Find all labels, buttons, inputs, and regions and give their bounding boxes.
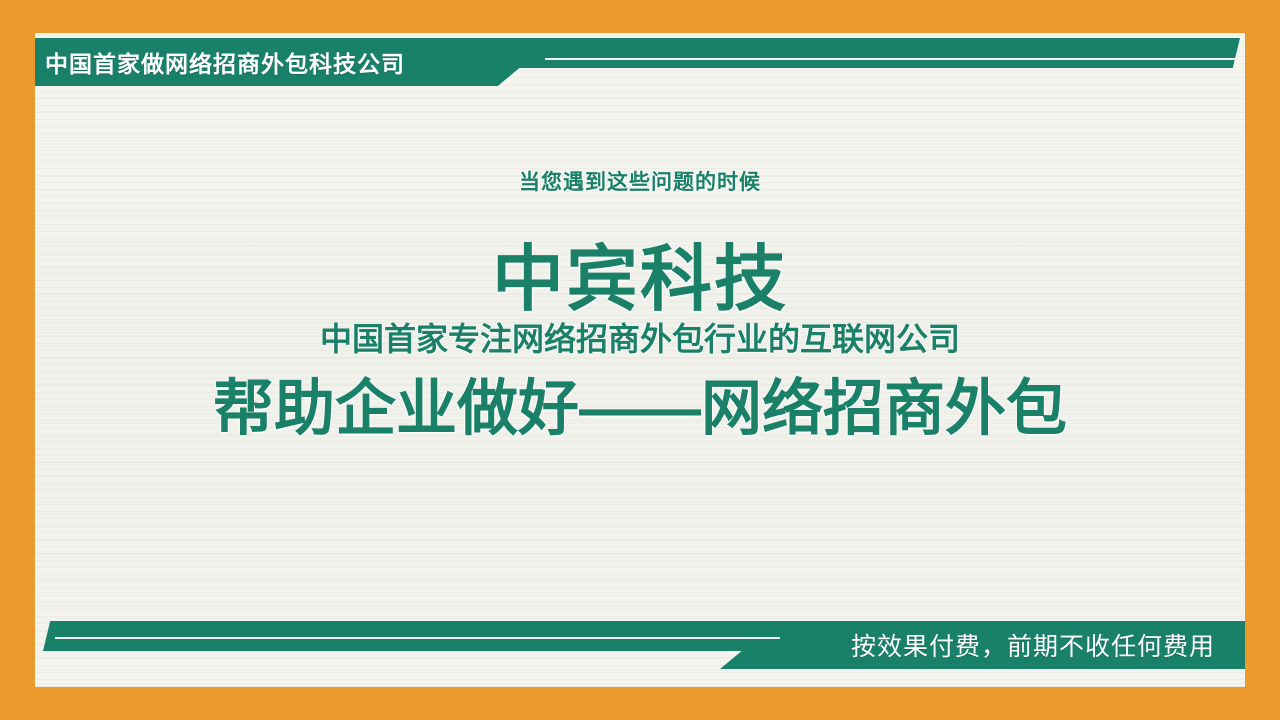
footer-slogan: 按效果付费，前期不收任何费用 — [851, 621, 1237, 669]
footer-hairline-divider — [55, 637, 780, 639]
tagline-heading: 帮助企业做好——网络招商外包 — [35, 358, 1245, 447]
brand-name-heading: 中宾科技 — [35, 243, 1245, 319]
header-hairline-divider — [545, 58, 1237, 60]
brand-subtitle: 中国首家专注网络招商外包行业的互联网公司 — [35, 314, 1245, 360]
header-title: 中国首家做网络招商外包科技公司 — [35, 38, 505, 86]
eyebrow-text: 当您遇到这些问题的时候 — [35, 166, 1245, 196]
footer-band: 按效果付费，前期不收任何费用 — [35, 621, 1245, 669]
header-band: 中国首家做网络招商外包科技公司 — [35, 38, 1245, 86]
presentation-slide: 中国首家做网络招商外包科技公司 当您遇到这些问题的时候 中宾科技 中国首家专注网… — [0, 0, 1280, 720]
slide-canvas: 中国首家做网络招商外包科技公司 当您遇到这些问题的时候 中宾科技 中国首家专注网… — [35, 33, 1245, 687]
